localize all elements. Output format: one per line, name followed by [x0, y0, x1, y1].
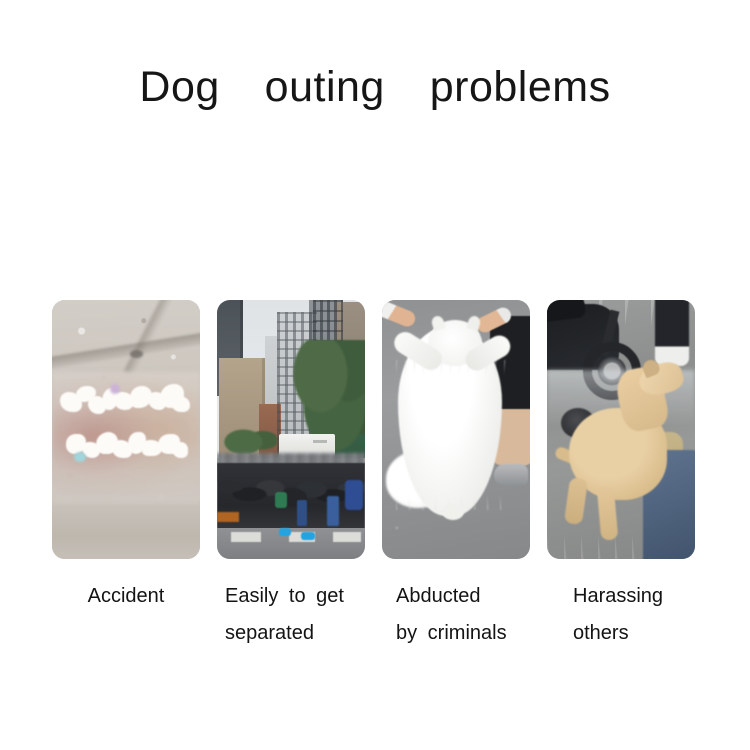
crosswalk-stripe: [231, 532, 261, 542]
dog-hind-foot-icon: [442, 504, 464, 520]
truck-detail: [313, 440, 327, 443]
censor-blobs-group: [52, 300, 200, 559]
shoe-icon: [301, 532, 315, 540]
dog-fur-texture: [396, 360, 506, 510]
pedestrian-icon: [275, 492, 287, 508]
pedestrian-icon: [297, 500, 307, 526]
image-panel-row: [52, 300, 702, 559]
crowded-street-photo: [217, 300, 365, 559]
dog-harassing-photo: [547, 300, 695, 559]
dog-abduction-photo: [382, 300, 530, 559]
pedestrian-icon: [327, 496, 339, 526]
crowded-street-scene: [217, 300, 365, 559]
page-title: Dog outing problems: [0, 62, 750, 112]
caption-row: Accident Easily to get separated Abducte…: [52, 578, 702, 652]
accident-scene: [52, 300, 200, 559]
caption-accident: Accident: [52, 578, 200, 652]
caption-harassing: Harassing others: [561, 578, 721, 652]
caption-abducted: Abducted by criminals: [390, 578, 544, 652]
shoe-icon: [279, 528, 291, 536]
poster-canvas: Dog outing problems: [0, 0, 750, 750]
crosswalk-stripe: [333, 532, 361, 542]
bystander-legs-icon: [655, 300, 689, 366]
pedestrian-icon: [345, 480, 363, 510]
dog-abduction-scene: [382, 300, 530, 559]
accident-photo: [52, 300, 200, 559]
dog-harassing-scene: [547, 300, 695, 559]
caption-separated: Easily to get separated: [217, 578, 373, 652]
street-cart: [217, 512, 239, 522]
